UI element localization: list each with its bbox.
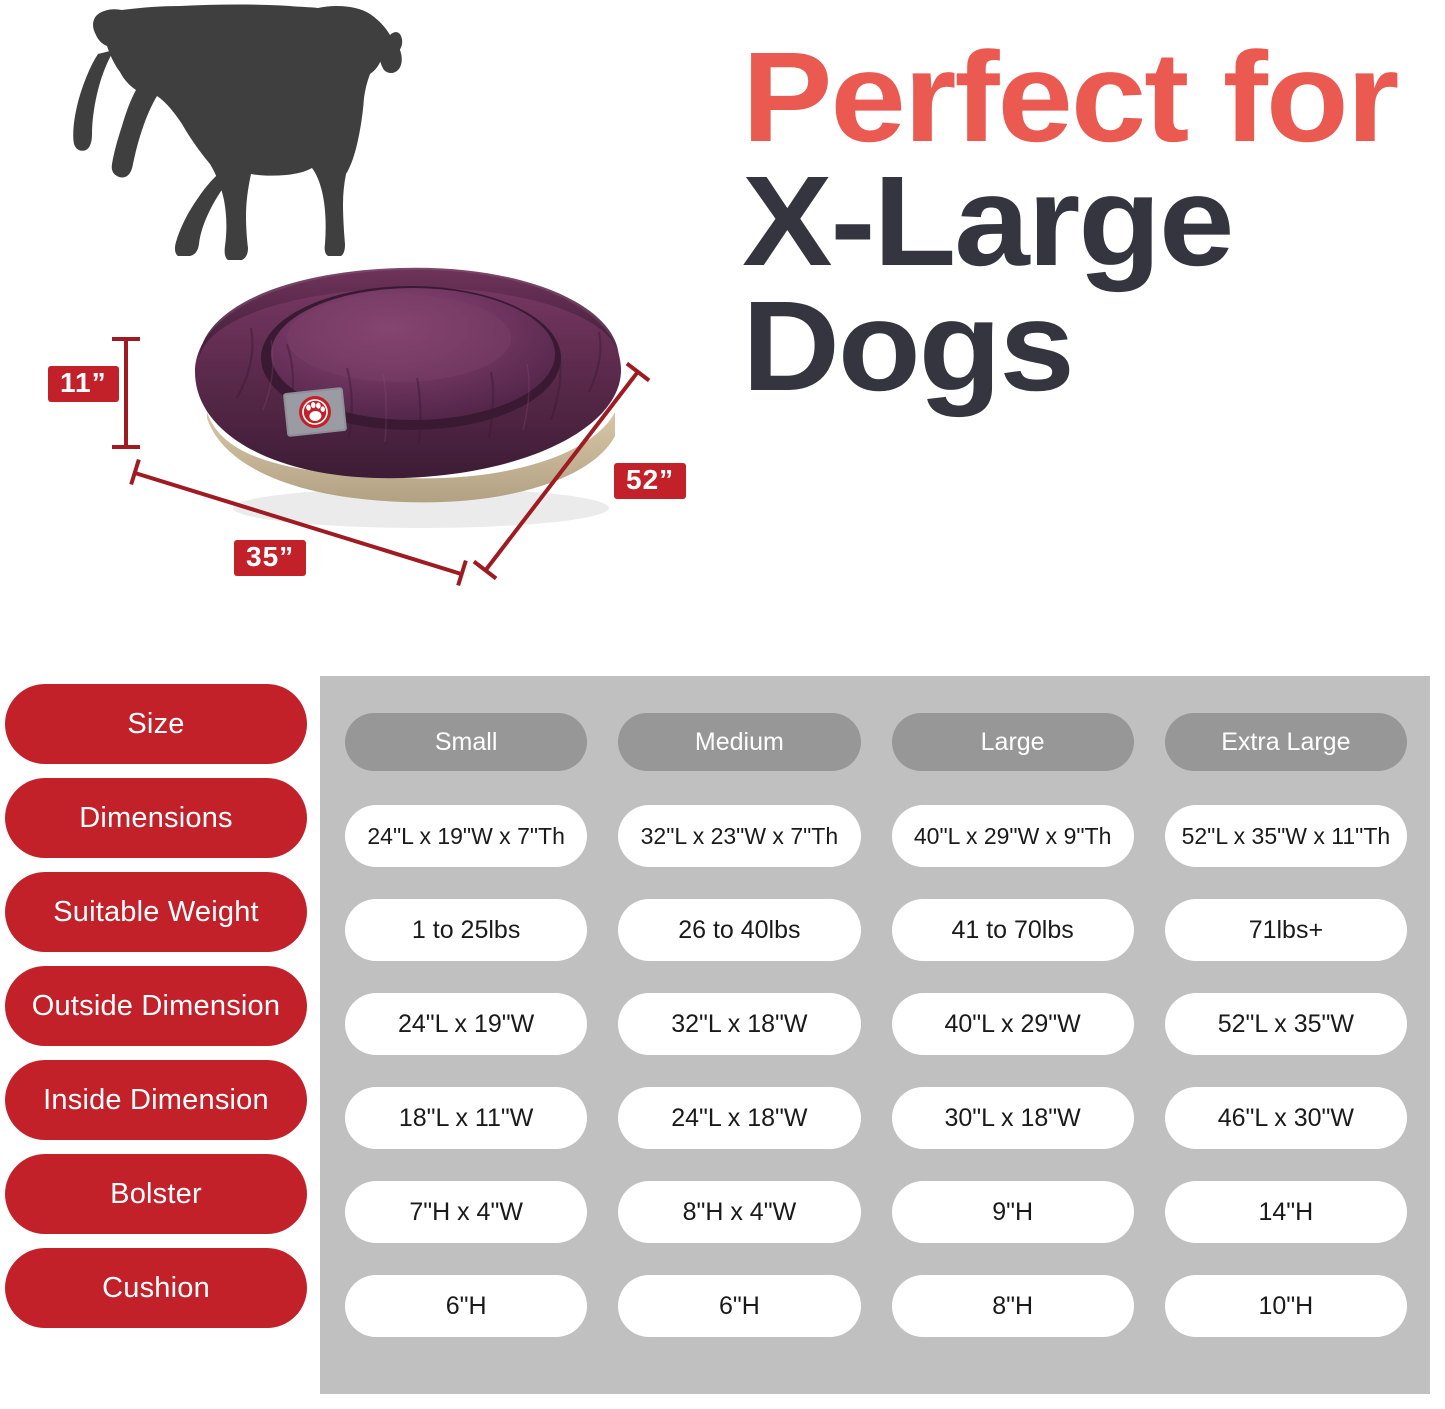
cell-inside-dimension-medium: 24"L x 18"W [618, 1087, 860, 1149]
height-rule-cap-top [112, 337, 140, 341]
value-grid: Small Medium Large Extra Large 24"L x 19… [345, 702, 1407, 1360]
cell-dimensions-small: 24"L x 19"W x 7"Th [345, 805, 587, 867]
cell-suitable-weight-medium: 26 to 40lbs [618, 899, 860, 961]
table-header-row: Small Medium Large Extra Large [345, 702, 1407, 782]
headline-block: Perfect for X-Large Dogs [742, 38, 1442, 407]
headline-line-3: Dogs [742, 287, 1445, 407]
row-label-size: Size [5, 684, 307, 764]
table-row-suitable-weight: 1 to 25lbs 26 to 40lbs 41 to 70lbs 71lbs… [345, 890, 1407, 970]
row-label-inside-dimension: Inside Dimension [5, 1060, 307, 1140]
table-row-cushion: 6"H 6"H 8"H 10"H [345, 1266, 1407, 1346]
dimension-badge-width: 35” [234, 540, 306, 576]
row-label-outside-dimension: Outside Dimension [5, 966, 307, 1046]
cell-outside-dimension-medium: 32"L x 18"W [618, 993, 860, 1055]
specification-table: Size Dimensions Suitable Weight Outside … [0, 660, 1445, 1409]
cell-bolster-small: 7"H x 4"W [345, 1181, 587, 1243]
cell-suitable-weight-large: 41 to 70lbs [892, 899, 1134, 961]
cell-suitable-weight-extra-large: 71lbs+ [1165, 899, 1407, 961]
column-header-small: Small [345, 713, 587, 771]
product-photo-dog-bed [163, 222, 663, 540]
row-label-column: Size Dimensions Suitable Weight Outside … [5, 684, 307, 1342]
height-rule-line [124, 337, 128, 449]
cell-inside-dimension-small: 18"L x 11"W [345, 1087, 587, 1149]
cell-dimensions-medium: 32"L x 23"W x 7"Th [618, 805, 860, 867]
column-header-extra-large: Extra Large [1165, 713, 1407, 771]
cell-bolster-medium: 8"H x 4"W [618, 1181, 860, 1243]
cell-outside-dimension-small: 24"L x 19"W [345, 993, 587, 1055]
brand-tag [283, 387, 347, 437]
cell-bolster-extra-large: 14"H [1165, 1181, 1407, 1243]
cell-outside-dimension-extra-large: 52"L x 35"W [1165, 993, 1407, 1055]
cell-suitable-weight-small: 1 to 25lbs [345, 899, 587, 961]
row-label-suitable-weight: Suitable Weight [5, 872, 307, 952]
cell-inside-dimension-large: 30"L x 18"W [892, 1087, 1134, 1149]
cell-dimensions-large: 40"L x 29"W x 9"Th [892, 805, 1134, 867]
cell-bolster-large: 9"H [892, 1181, 1134, 1243]
table-row-outside-dimension: 24"L x 19"W 32"L x 18"W 40"L x 29"W 52"L… [345, 984, 1407, 1064]
headline-line-1: Perfect for [742, 38, 1445, 158]
cell-cushion-extra-large: 10"H [1165, 1275, 1407, 1337]
row-label-cushion: Cushion [5, 1248, 307, 1328]
cell-cushion-medium: 6"H [618, 1275, 860, 1337]
row-label-dimensions: Dimensions [5, 778, 307, 858]
dimension-badge-length: 52” [614, 463, 686, 499]
column-header-medium: Medium [618, 713, 860, 771]
cell-dimensions-extra-large: 52"L x 35"W x 11"Th [1165, 805, 1407, 867]
cell-outside-dimension-large: 40"L x 29"W [892, 993, 1134, 1055]
row-label-bolster: Bolster [5, 1154, 307, 1234]
table-row-inside-dimension: 18"L x 11"W 24"L x 18"W 30"L x 18"W 46"L… [345, 1078, 1407, 1158]
headline-line-2: X-Large [742, 162, 1445, 282]
hero-section: 11” 35” 52” Perfect for X-Large Dogs [0, 0, 1445, 660]
cell-inside-dimension-extra-large: 46"L x 30"W [1165, 1087, 1407, 1149]
column-header-large: Large [892, 713, 1134, 771]
table-row-dimensions: 24"L x 19"W x 7"Th 32"L x 23"W x 7"Th 40… [345, 796, 1407, 876]
height-rule-cap-bottom [112, 445, 140, 449]
dimension-badge-height: 11” [48, 366, 119, 402]
table-row-bolster: 7"H x 4"W 8"H x 4"W 9"H 14"H [345, 1172, 1407, 1252]
cell-cushion-large: 8"H [892, 1275, 1134, 1337]
cell-cushion-small: 6"H [345, 1275, 587, 1337]
